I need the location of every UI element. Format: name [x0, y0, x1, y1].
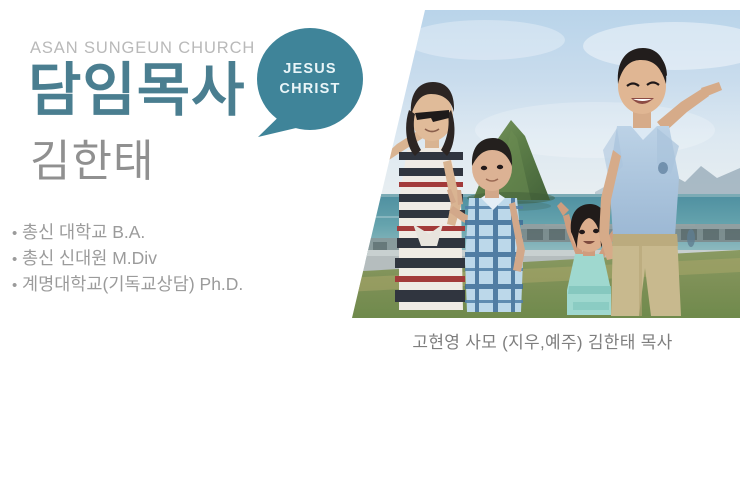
speech-bubble-shape [255, 27, 365, 139]
credential-text: 계명대학교(기독교상담) Ph.D. [22, 274, 243, 294]
church-name-eyebrow: ASAN SUNGEUN CHURCH [30, 39, 255, 58]
pastor-profile-slide: ASAN SUNGEUN CHURCH 담임목사 김한태 •총신 대학교 B.A… [0, 0, 740, 488]
credential-text: 총신 신대원 M.Div [22, 248, 157, 268]
page-title: 담임목사 [28, 62, 245, 120]
credential-text: 총신 대학교 B.A. [22, 222, 145, 242]
bullet-icon: • [12, 273, 22, 298]
bullet-icon: • [12, 247, 22, 272]
list-item: •계명대학교(기독교상담) Ph.D. [12, 272, 243, 298]
list-item: •총신 신대원 M.Div [12, 246, 243, 272]
list-item: •총신 대학교 B.A. [12, 220, 243, 246]
photo-caption: 고현영 사모 (지우,예주) 김한태 목사 [345, 328, 740, 353]
credentials-list: •총신 대학교 B.A. •총신 신대원 M.Div •계명대학교(기독교상담)… [12, 220, 243, 298]
bullet-icon: • [12, 221, 22, 246]
speech-bubble: JESUS CHRIST [255, 27, 365, 139]
family-photo [345, 10, 740, 318]
family-photo-artwork [345, 10, 740, 318]
pastor-name: 김한태 [30, 140, 154, 184]
